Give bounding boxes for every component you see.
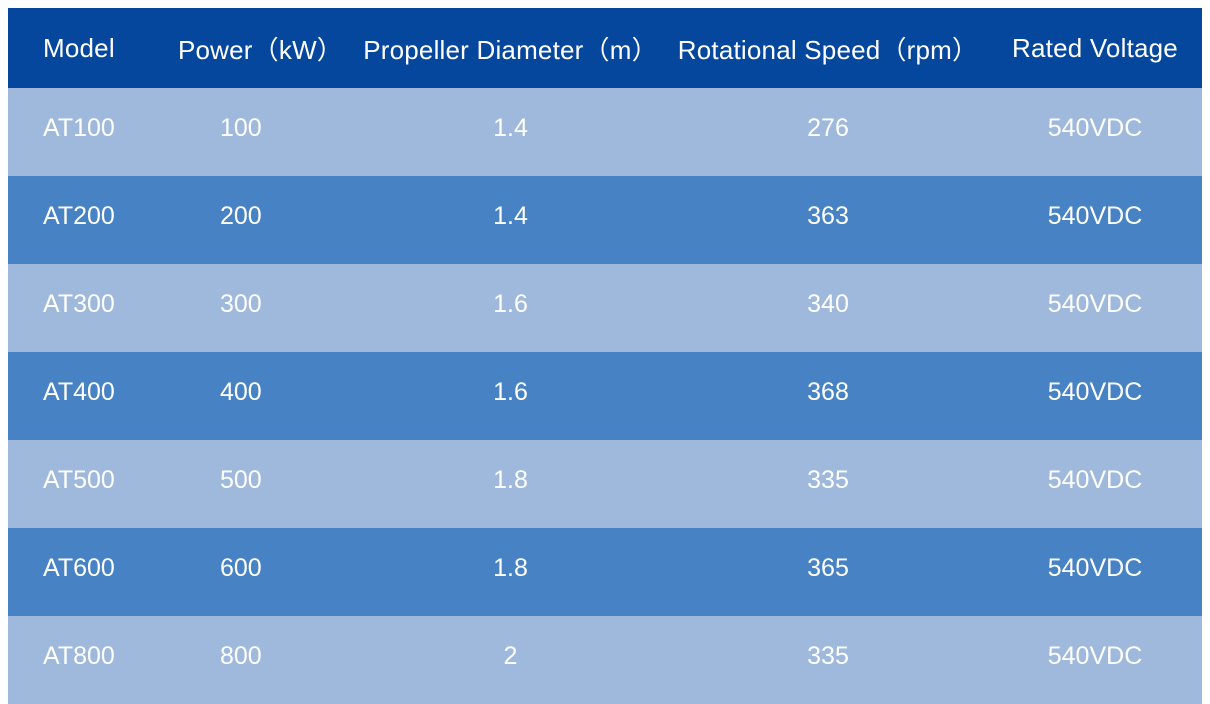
cell-model: AT100 bbox=[8, 88, 168, 176]
column-header-power: Power（kW） bbox=[168, 8, 353, 88]
column-header-voltage: Rated Voltage bbox=[988, 8, 1202, 88]
table-row: AT5005001.8335540VDC bbox=[8, 440, 1202, 528]
table-header-row: Model Power（kW） Propeller Diameter（m） Ro… bbox=[8, 8, 1202, 88]
cell-speed: 335 bbox=[668, 440, 988, 528]
cell-voltage: 540VDC bbox=[988, 264, 1202, 352]
cell-voltage: 540VDC bbox=[988, 88, 1202, 176]
table-row: AT1001001.4276540VDC bbox=[8, 88, 1202, 176]
table-row: AT2002001.4363540VDC bbox=[8, 176, 1202, 264]
column-header-speed: Rotational Speed（rpm） bbox=[668, 8, 988, 88]
table-row: AT6006001.8365540VDC bbox=[8, 528, 1202, 616]
cell-voltage: 540VDC bbox=[988, 352, 1202, 440]
cell-speed: 363 bbox=[668, 176, 988, 264]
cell-model: AT800 bbox=[8, 616, 168, 704]
cell-power: 400 bbox=[168, 352, 353, 440]
cell-diameter: 2 bbox=[353, 616, 668, 704]
column-header-model: Model bbox=[8, 8, 168, 88]
cell-power: 100 bbox=[168, 88, 353, 176]
cell-power: 300 bbox=[168, 264, 353, 352]
table-row: AT8008002335540VDC bbox=[8, 616, 1202, 704]
cell-diameter: 1.6 bbox=[353, 352, 668, 440]
specifications-table: Model Power（kW） Propeller Diameter（m） Ro… bbox=[8, 8, 1202, 704]
table-body: AT1001001.4276540VDCAT2002001.4363540VDC… bbox=[8, 88, 1202, 704]
cell-diameter: 1.4 bbox=[353, 88, 668, 176]
table-row: AT4004001.6368540VDC bbox=[8, 352, 1202, 440]
cell-voltage: 540VDC bbox=[988, 176, 1202, 264]
cell-speed: 365 bbox=[668, 528, 988, 616]
cell-model: AT200 bbox=[8, 176, 168, 264]
column-header-diameter: Propeller Diameter（m） bbox=[353, 8, 668, 88]
cell-speed: 340 bbox=[668, 264, 988, 352]
cell-speed: 335 bbox=[668, 616, 988, 704]
cell-power: 200 bbox=[168, 176, 353, 264]
cell-model: AT600 bbox=[8, 528, 168, 616]
cell-diameter: 1.4 bbox=[353, 176, 668, 264]
cell-diameter: 1.8 bbox=[353, 440, 668, 528]
cell-speed: 368 bbox=[668, 352, 988, 440]
cell-voltage: 540VDC bbox=[988, 616, 1202, 704]
cell-voltage: 540VDC bbox=[988, 528, 1202, 616]
cell-power: 600 bbox=[168, 528, 353, 616]
cell-diameter: 1.6 bbox=[353, 264, 668, 352]
cell-model: AT400 bbox=[8, 352, 168, 440]
cell-voltage: 540VDC bbox=[988, 440, 1202, 528]
table-row: AT3003001.6340540VDC bbox=[8, 264, 1202, 352]
table-header: Model Power（kW） Propeller Diameter（m） Ro… bbox=[8, 8, 1202, 88]
cell-diameter: 1.8 bbox=[353, 528, 668, 616]
cell-power: 500 bbox=[168, 440, 353, 528]
cell-speed: 276 bbox=[668, 88, 988, 176]
cell-model: AT500 bbox=[8, 440, 168, 528]
cell-power: 800 bbox=[168, 616, 353, 704]
cell-model: AT300 bbox=[8, 264, 168, 352]
